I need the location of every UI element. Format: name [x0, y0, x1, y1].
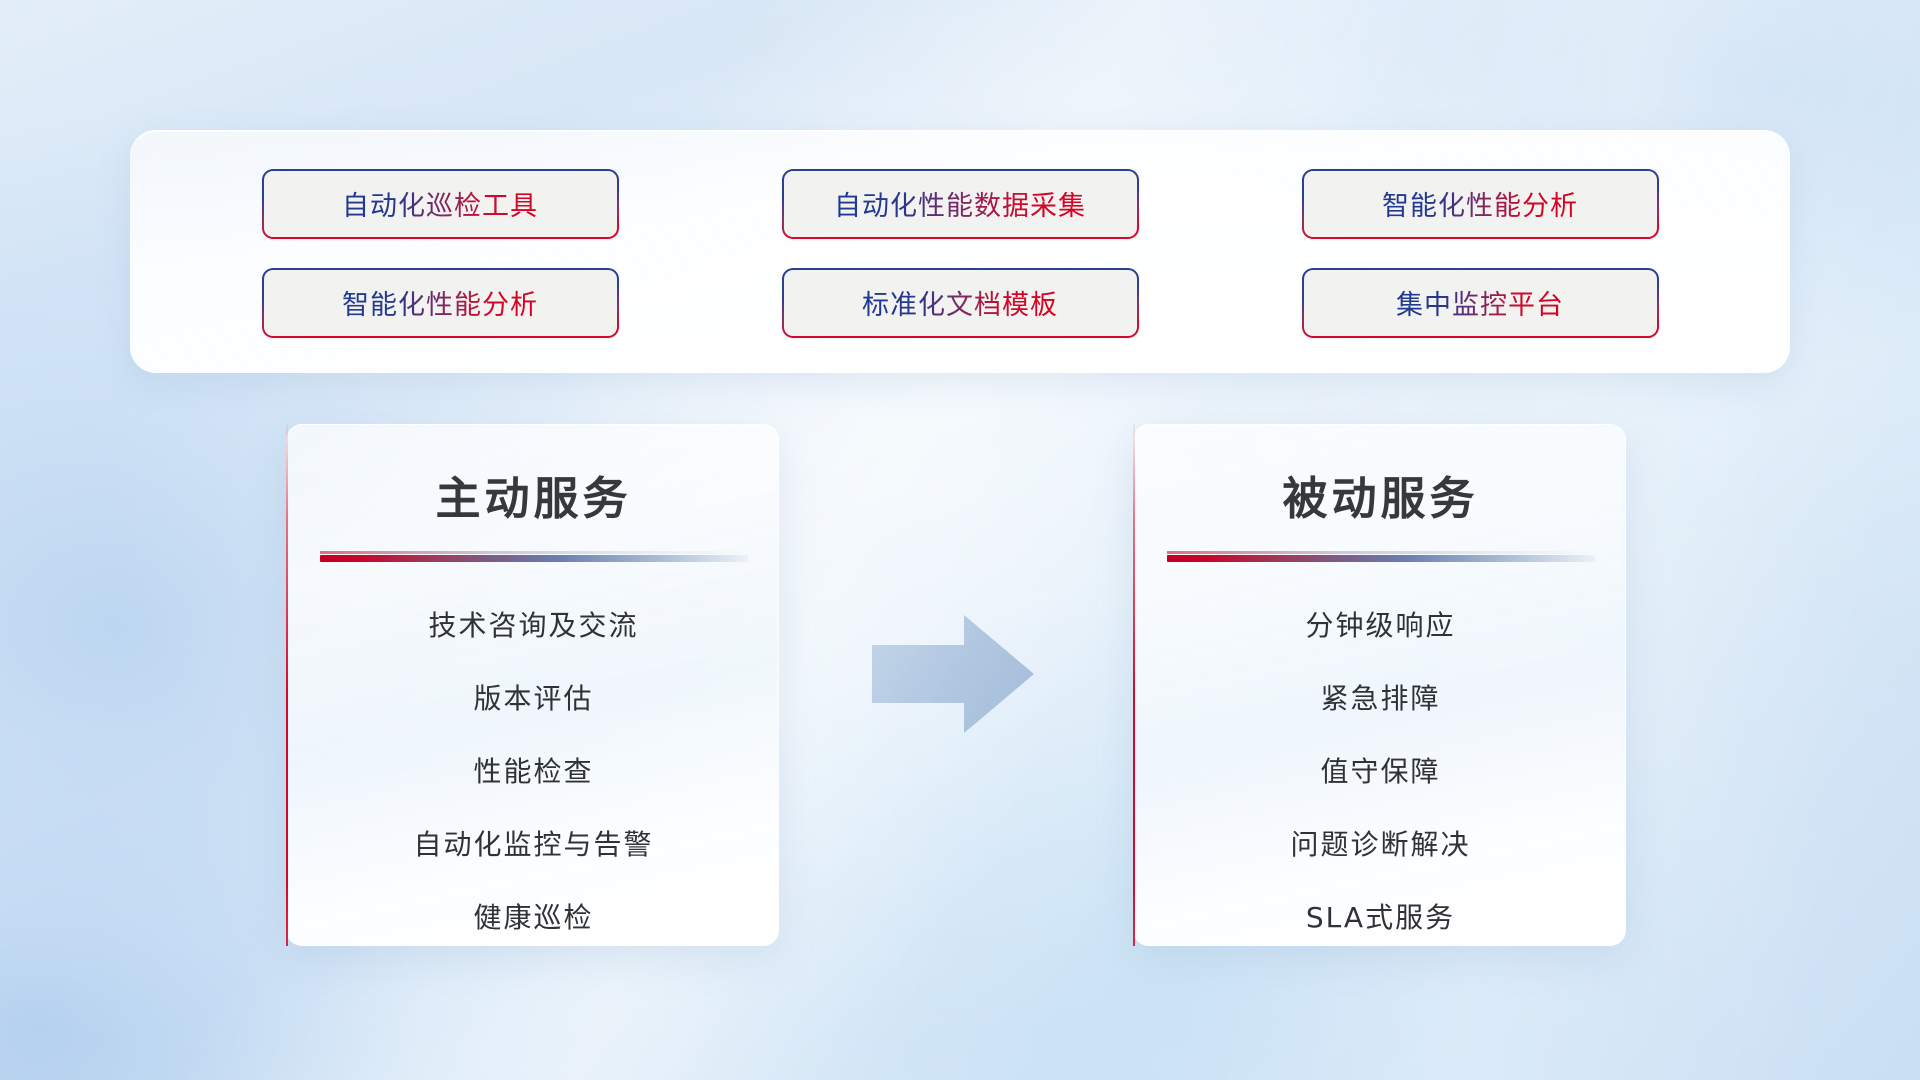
capability-pill-label: 自动化性能数据采集 [834, 184, 1086, 223]
service-list-item: SLA式服务 [1306, 896, 1455, 936]
capability-pill-label: 智能化性能分析 [342, 283, 538, 322]
flow-arrow-right-icon [872, 613, 1034, 735]
service-card-divider [1167, 555, 1595, 562]
capability-pill-6[interactable]: 集中监控平台 [1302, 268, 1659, 338]
capability-pill-label: 集中监控平台 [1396, 283, 1564, 322]
capability-pill-grid: 自动化巡检工具 自动化性能数据采集 智能化性能分析 智能化性能分析 标准化文档模… [130, 131, 1790, 373]
service-list-item: 值守保障 [1320, 750, 1440, 790]
service-card-reactive: 被动服务 分钟级响应 紧急排障 值守保障 问题诊断解决 SLA式服务 [1133, 424, 1626, 946]
capability-pill-1[interactable]: 自动化巡检工具 [262, 169, 619, 239]
service-card-proactive: 主动服务 技术咨询及交流 版本评估 性能检查 自动化监控与告警 健康巡检 [286, 424, 779, 946]
service-card-divider [320, 555, 748, 562]
service-list-item: 技术咨询及交流 [428, 604, 638, 644]
capability-pill-5[interactable]: 标准化文档模板 [782, 268, 1139, 338]
service-list-item: 性能检查 [473, 750, 593, 790]
service-item-list: 技术咨询及交流 版本评估 性能检查 自动化监控与告警 健康巡检 [288, 604, 779, 936]
service-card-title: 被动服务 [1135, 462, 1626, 527]
capability-pill-2[interactable]: 自动化性能数据采集 [782, 169, 1139, 239]
capability-pill-4[interactable]: 智能化性能分析 [262, 268, 619, 338]
service-list-item: 版本评估 [473, 677, 593, 717]
capability-pill-label: 标准化文档模板 [862, 283, 1058, 322]
service-list-item: 分钟级响应 [1305, 604, 1455, 644]
service-list-item: 紧急排障 [1320, 677, 1440, 717]
capability-pill-label: 自动化巡检工具 [342, 184, 538, 223]
service-item-list: 分钟级响应 紧急排障 值守保障 问题诊断解决 SLA式服务 [1135, 604, 1626, 936]
service-card-title: 主动服务 [288, 462, 779, 527]
capability-pill-3[interactable]: 智能化性能分析 [1302, 169, 1659, 239]
service-list-item: 健康巡检 [473, 896, 593, 936]
capability-pill-label: 智能化性能分析 [1382, 184, 1578, 223]
service-list-item: 自动化监控与告警 [413, 823, 653, 863]
service-list-item: 问题诊断解决 [1290, 823, 1470, 863]
capability-panel: 自动化巡检工具 自动化性能数据采集 智能化性能分析 智能化性能分析 标准化文档模… [130, 130, 1790, 373]
